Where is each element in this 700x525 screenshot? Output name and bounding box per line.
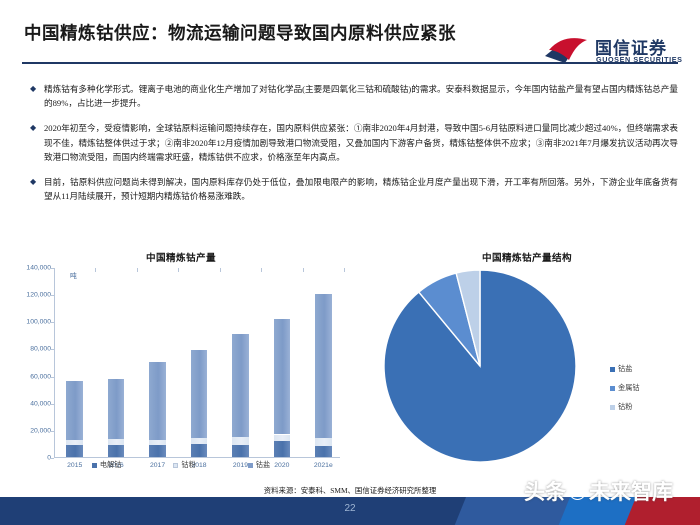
legend-item: 金属钴 bbox=[610, 383, 640, 393]
bar-segment bbox=[66, 381, 83, 440]
pie-plot-area: 钴盐金属钴钴粉 89.00%7.00%4.00% bbox=[362, 266, 692, 471]
bar-segment bbox=[191, 444, 208, 457]
bar-chart-title: 中国精炼钴产量 bbox=[12, 250, 350, 264]
legend-swatch bbox=[610, 367, 615, 372]
bar-plot-area: 吨 020,00040,00060,00080,000100,000120,00… bbox=[54, 268, 344, 458]
bullet-text-1: 精炼钴有多种化学形式。锂离子电池的商业化生产增加了对钴化学品(主要是四氧化三钴和… bbox=[44, 82, 678, 110]
legend-label: 钴粉 bbox=[618, 402, 632, 412]
bar-segment bbox=[232, 445, 249, 457]
bar-group bbox=[191, 350, 208, 457]
bar-segment bbox=[191, 350, 208, 438]
bar-group bbox=[149, 362, 166, 457]
y-axis-tick-label: 100,000 bbox=[26, 319, 51, 326]
pie-slice-label: 89.00% bbox=[495, 465, 520, 474]
bar-segment bbox=[191, 438, 208, 444]
x-axis-tick bbox=[303, 268, 304, 272]
legend-swatch bbox=[610, 405, 615, 410]
bullet-list: ◆ 精炼钴有多种化学形式。锂离子电池的商业化生产增加了对钴化学品(主要是四氧化三… bbox=[30, 82, 678, 214]
y-axis-tick-label: 20,000 bbox=[30, 427, 51, 434]
bar-group bbox=[232, 334, 249, 457]
logo-text-en: GUOSEN SECURITIES bbox=[596, 55, 682, 64]
legend-item: 钴粉 bbox=[610, 402, 640, 412]
pie-chart: 中国精炼钴产量结构 钴盐金属钴钴粉 89.00%7.00%4.00% bbox=[362, 248, 692, 488]
y-axis-tick bbox=[50, 322, 54, 323]
x-axis-tick bbox=[137, 268, 138, 272]
y-axis-tick-label: 80,000 bbox=[30, 346, 51, 353]
y-axis-tick-label: 40,000 bbox=[30, 400, 51, 407]
charts-row: 中国精炼钴产量 吨 020,00040,00060,00080,000100,0… bbox=[0, 248, 700, 488]
y-axis-tick-label: 60,000 bbox=[30, 373, 51, 380]
y-axis-tick bbox=[50, 377, 54, 378]
pie-chart-title: 中国精炼钴产量结构 bbox=[362, 250, 692, 264]
legend-swatch bbox=[248, 463, 253, 468]
diamond-bullet-icon: ◆ bbox=[30, 124, 36, 132]
y-axis-tick bbox=[50, 349, 54, 350]
bar-group bbox=[315, 294, 332, 457]
bar-chart-legend: 电解钴钴粉钴盐 bbox=[12, 460, 350, 470]
diamond-bullet-icon: ◆ bbox=[30, 85, 36, 93]
bar-segment bbox=[315, 294, 332, 437]
legend-item: 电解钴 bbox=[92, 460, 122, 470]
x-axis-line bbox=[54, 457, 340, 458]
bar-group bbox=[274, 319, 291, 457]
y-axis-tick bbox=[50, 295, 54, 296]
bullet-text-3: 目前，钴原料供应问题尚未得到解决，国内原料库存仍处于低位，叠加限电限产的影响，精… bbox=[44, 175, 678, 203]
bar-segment bbox=[108, 445, 125, 457]
y-axis-tick bbox=[50, 431, 54, 432]
x-axis-tick bbox=[220, 268, 221, 272]
page-title: 中国精炼钴供应：物流运输问题导致国内原料供应紧张 bbox=[24, 20, 456, 45]
at-symbol-icon bbox=[569, 483, 586, 500]
pie-chart-legend: 钴盐金属钴钴粉 bbox=[610, 364, 640, 421]
bar-segment bbox=[149, 362, 166, 440]
bar-segment bbox=[108, 379, 125, 440]
bar-segment bbox=[149, 445, 166, 457]
bullet-item-3: ◆ 目前，钴原料供应问题尚未得到解决，国内原料库存仍处于低位，叠加限电限产的影响… bbox=[30, 175, 678, 203]
guosen-logo-icon bbox=[543, 36, 589, 66]
bar-segment bbox=[232, 437, 249, 444]
y-axis-tick-label: 140,000 bbox=[26, 265, 51, 272]
bar-segment bbox=[315, 446, 332, 457]
bar-chart: 中国精炼钴产量 吨 020,00040,00060,00080,000100,0… bbox=[12, 248, 350, 488]
y-axis-tick bbox=[50, 268, 54, 269]
bar-segment bbox=[315, 438, 332, 446]
legend-item: 钴粉 bbox=[173, 460, 195, 470]
y-axis-tick-label: 120,000 bbox=[26, 292, 51, 299]
bar-segment bbox=[66, 440, 83, 445]
bar-group bbox=[108, 379, 125, 457]
pie-slice-label: 4.00% bbox=[467, 216, 488, 225]
x-axis-tick bbox=[261, 268, 262, 272]
bar-segment bbox=[232, 334, 249, 437]
bar-segment bbox=[274, 435, 291, 442]
bullet-text-2: 2020年初至今，受疫情影响，全球钴原料运输问题持续存在，国内原料供应紧张：①南… bbox=[44, 121, 678, 164]
y-axis-tick bbox=[50, 404, 54, 405]
bar-segment bbox=[149, 440, 166, 445]
bar-group bbox=[66, 381, 83, 457]
pie-slice-label: 7.00% bbox=[417, 236, 438, 245]
slide-header: 中国精炼钴供应：物流运输问题导致国内原料供应紧张 国信证券 GUOSEN SEC… bbox=[0, 0, 700, 72]
legend-swatch bbox=[610, 386, 615, 391]
legend-label: 钴盐 bbox=[256, 460, 270, 470]
bullet-item-1: ◆ 精炼钴有多种化学形式。锂离子电池的商业化生产增加了对钴化学品(主要是四氧化三… bbox=[30, 82, 678, 110]
y-axis-tick bbox=[50, 458, 54, 459]
bullet-item-2: ◆ 2020年初至今，受疫情影响，全球钴原料运输问题持续存在，国内原料供应紧张：… bbox=[30, 121, 678, 164]
bar-segment bbox=[274, 319, 291, 434]
y-axis-line bbox=[54, 268, 55, 458]
legend-item: 钴盐 bbox=[610, 364, 640, 374]
x-axis-tick bbox=[178, 268, 179, 272]
legend-swatch bbox=[92, 463, 97, 468]
legend-label: 钴粉 bbox=[181, 460, 195, 470]
diamond-bullet-icon: ◆ bbox=[30, 178, 36, 186]
bar-segment bbox=[108, 439, 125, 444]
watermark-prefix: 头条 bbox=[524, 476, 566, 506]
slide: 中国精炼钴供应：物流运输问题导致国内原料供应紧张 国信证券 GUOSEN SEC… bbox=[0, 0, 700, 525]
bar-segment bbox=[274, 441, 291, 457]
legend-item: 钴盐 bbox=[248, 460, 270, 470]
x-axis-tick bbox=[95, 268, 96, 272]
bar-segment bbox=[66, 445, 83, 457]
pie-svg bbox=[362, 266, 692, 471]
legend-label: 金属钴 bbox=[618, 383, 640, 393]
watermark: 头条 未来智库 bbox=[524, 472, 692, 510]
legend-label: 钴盐 bbox=[618, 364, 632, 374]
x-axis-tick bbox=[344, 268, 345, 272]
legend-swatch bbox=[173, 463, 178, 468]
bar-unit-label: 吨 bbox=[70, 270, 77, 280]
legend-label: 电解钴 bbox=[100, 460, 122, 470]
watermark-handle: 未来智库 bbox=[589, 476, 673, 506]
company-logo: 国信证券 GUOSEN SECURITIES bbox=[543, 34, 693, 68]
